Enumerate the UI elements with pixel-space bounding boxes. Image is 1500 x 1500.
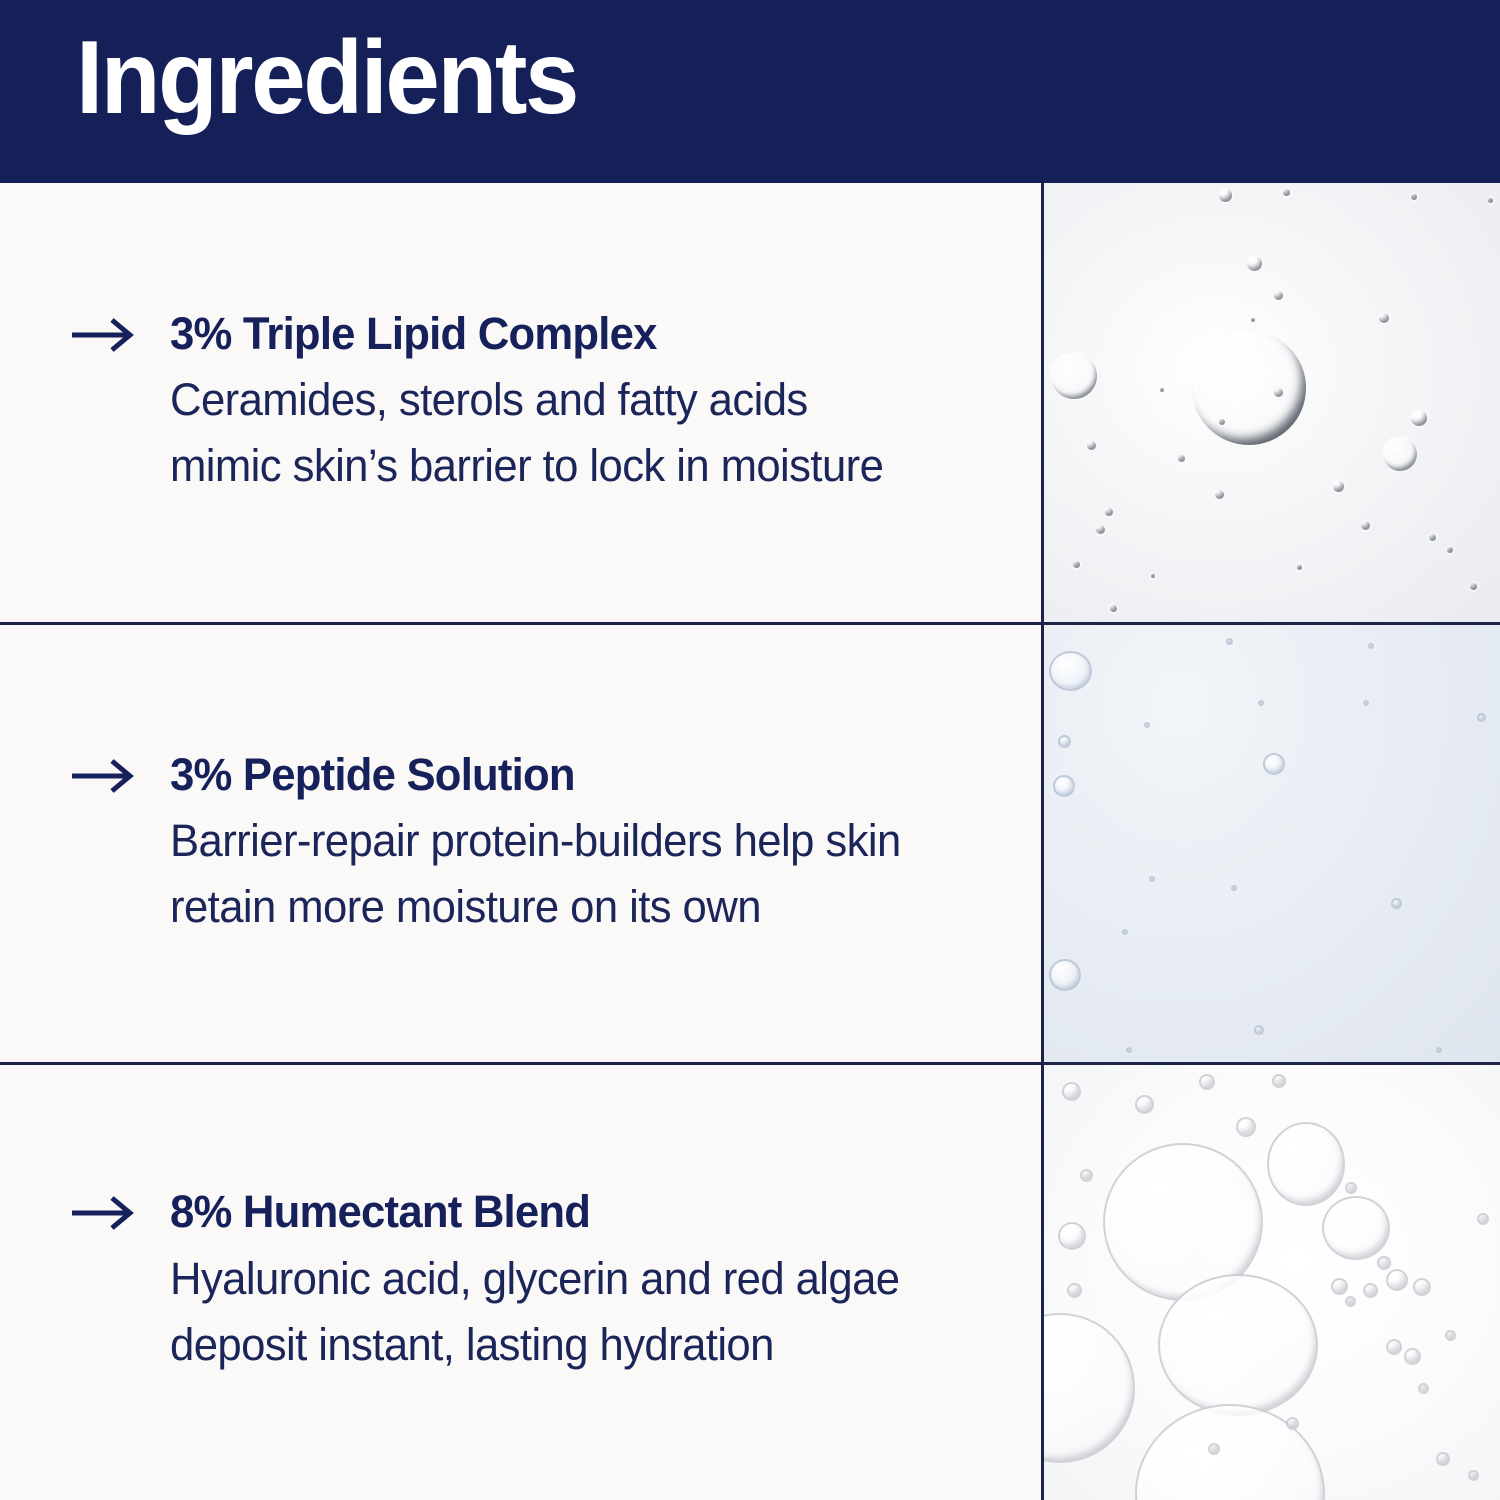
ingredient-text-cell: 8% Humectant Blend Hyaluronic acid, glyc… [0,1065,1041,1500]
ingredients-list: 3% Triple Lipid Complex Ceramides, stero… [0,183,1500,1500]
ingredient-image-2 [1044,625,1500,1065]
ingredient-text-cell: 3% Peptide Solution Barrier-repair prote… [0,625,1041,1065]
row-divider [0,622,1500,625]
arrow-right-icon [70,309,170,355]
ingredients-infographic: Ingredients 3% Triple Lipid Complex Cera… [0,0,1500,1500]
ingredient-image-3 [1044,1065,1500,1500]
ingredient-text-cell: 3% Triple Lipid Complex Ceramides, stero… [0,183,1041,625]
ingredient-title: 3% Triple Lipid Complex [170,309,957,359]
ingredient-row: 8% Humectant Blend Hyaluronic acid, glyc… [0,1065,1500,1500]
ingredient-row: 3% Triple Lipid Complex Ceramides, stero… [0,183,1500,625]
ingredient-description: Ceramides, sterols and fatty acids mimic… [170,367,907,499]
ingredient-image-1 [1044,183,1500,625]
ingredient-title: 8% Humectant Blend [170,1187,957,1237]
ingredient-title: 3% Peptide Solution [170,750,957,800]
page-title: Ingredients [76,24,577,133]
arrow-right-icon [70,750,170,796]
ingredient-row: 3% Peptide Solution Barrier-repair prote… [0,625,1500,1065]
column-divider [1041,183,1044,1500]
ingredient-description: Hyaluronic acid, glycerin and red algae … [170,1246,907,1378]
arrow-right-icon [70,1187,170,1233]
header-band: Ingredients [0,0,1500,183]
ingredient-description: Barrier-repair protein-builders help ski… [170,808,907,940]
row-divider [0,1062,1500,1065]
